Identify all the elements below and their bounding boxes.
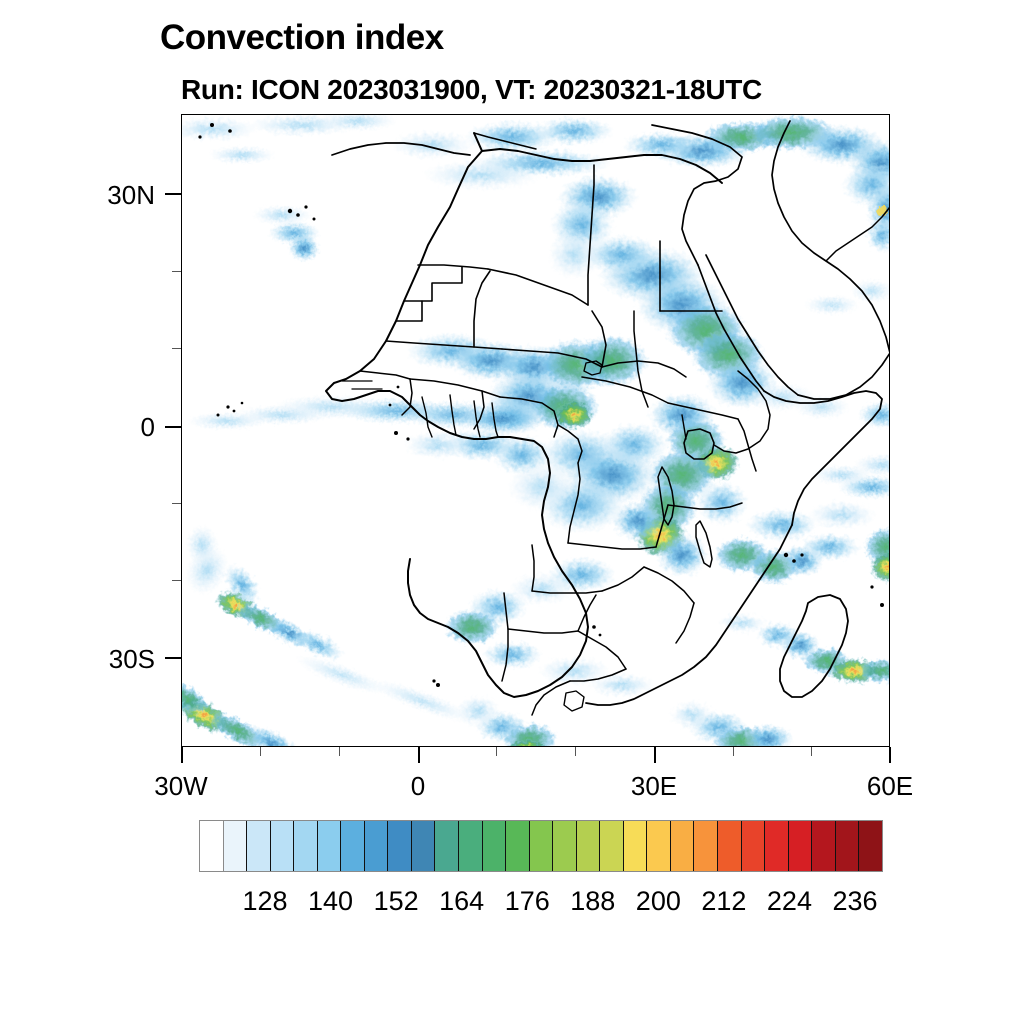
colorbar-cell	[577, 821, 601, 871]
colorbar-cell	[412, 821, 436, 871]
colorbar-cell	[318, 821, 342, 871]
colorbar-cell	[694, 821, 718, 871]
map-svg	[182, 115, 890, 747]
colorbar-cell	[506, 821, 530, 871]
y-axis-label-30n: 30N	[40, 180, 155, 211]
y-axis-label-0: 0	[40, 412, 155, 443]
colorbar-cell	[600, 821, 624, 871]
x-tick-50e	[811, 747, 812, 756]
y-tick-20s	[172, 580, 181, 581]
x-axis-label-60e: 60E	[830, 771, 950, 802]
colorbar[interactable]	[199, 820, 883, 872]
y-tick-30s	[165, 657, 181, 659]
colorbar-cell	[224, 821, 248, 871]
colorbar-cell	[553, 821, 577, 871]
x-axis-label-30e: 30E	[594, 771, 714, 802]
colorbar-cell	[765, 821, 789, 871]
colorbar-cell	[530, 821, 554, 871]
x-tick-40e	[733, 747, 734, 756]
colorbar-cell	[647, 821, 671, 871]
x-tick-0	[418, 747, 420, 763]
colorbar-cell	[859, 821, 882, 871]
y-tick-10s	[172, 503, 181, 504]
x-tick-10e	[496, 747, 497, 756]
y-tick-20n	[172, 271, 181, 272]
x-tick-20e	[575, 747, 576, 756]
colorbar-cell	[341, 821, 365, 871]
colorbar-cell	[718, 821, 742, 871]
y-tick-0	[165, 426, 181, 428]
map-plot-area[interactable]	[181, 114, 890, 747]
x-axis-label-30w: 30W	[121, 771, 241, 802]
colorbar-cell	[435, 821, 459, 871]
run-valid-time-subtitle: Run: ICON 2023031900, VT: 20230321-18UTC	[181, 74, 762, 106]
colorbar-tick-label: 236	[810, 886, 900, 917]
colorbar-cell	[812, 821, 836, 871]
colorbar-cell	[624, 821, 648, 871]
x-tick-30e	[654, 747, 656, 763]
x-tick-30w	[181, 747, 183, 763]
colorbar-cell	[789, 821, 813, 871]
x-tick-60e	[889, 747, 891, 763]
colorbar-cell	[271, 821, 295, 871]
colorbar-cell	[247, 821, 271, 871]
colorbar-cell	[294, 821, 318, 871]
colorbar-cell	[388, 821, 412, 871]
y-tick-10n	[172, 348, 181, 349]
x-tick-20w	[260, 747, 261, 756]
colorbar-cell	[459, 821, 483, 871]
x-tick-10w	[339, 747, 340, 756]
colorbar-cell	[200, 821, 224, 871]
y-axis-label-30s: 30S	[40, 644, 155, 675]
page-title: Convection index	[160, 18, 444, 58]
y-tick-30n	[165, 193, 181, 195]
colorbar-cell	[836, 821, 860, 871]
figure-canvas: Convection index Run: ICON 2023031900, V…	[0, 0, 1024, 1024]
colorbar-cell	[365, 821, 389, 871]
colorbar-cell	[483, 821, 507, 871]
colorbar-cell	[742, 821, 766, 871]
colorbar-cell	[671, 821, 695, 871]
x-axis-label-0: 0	[358, 771, 478, 802]
